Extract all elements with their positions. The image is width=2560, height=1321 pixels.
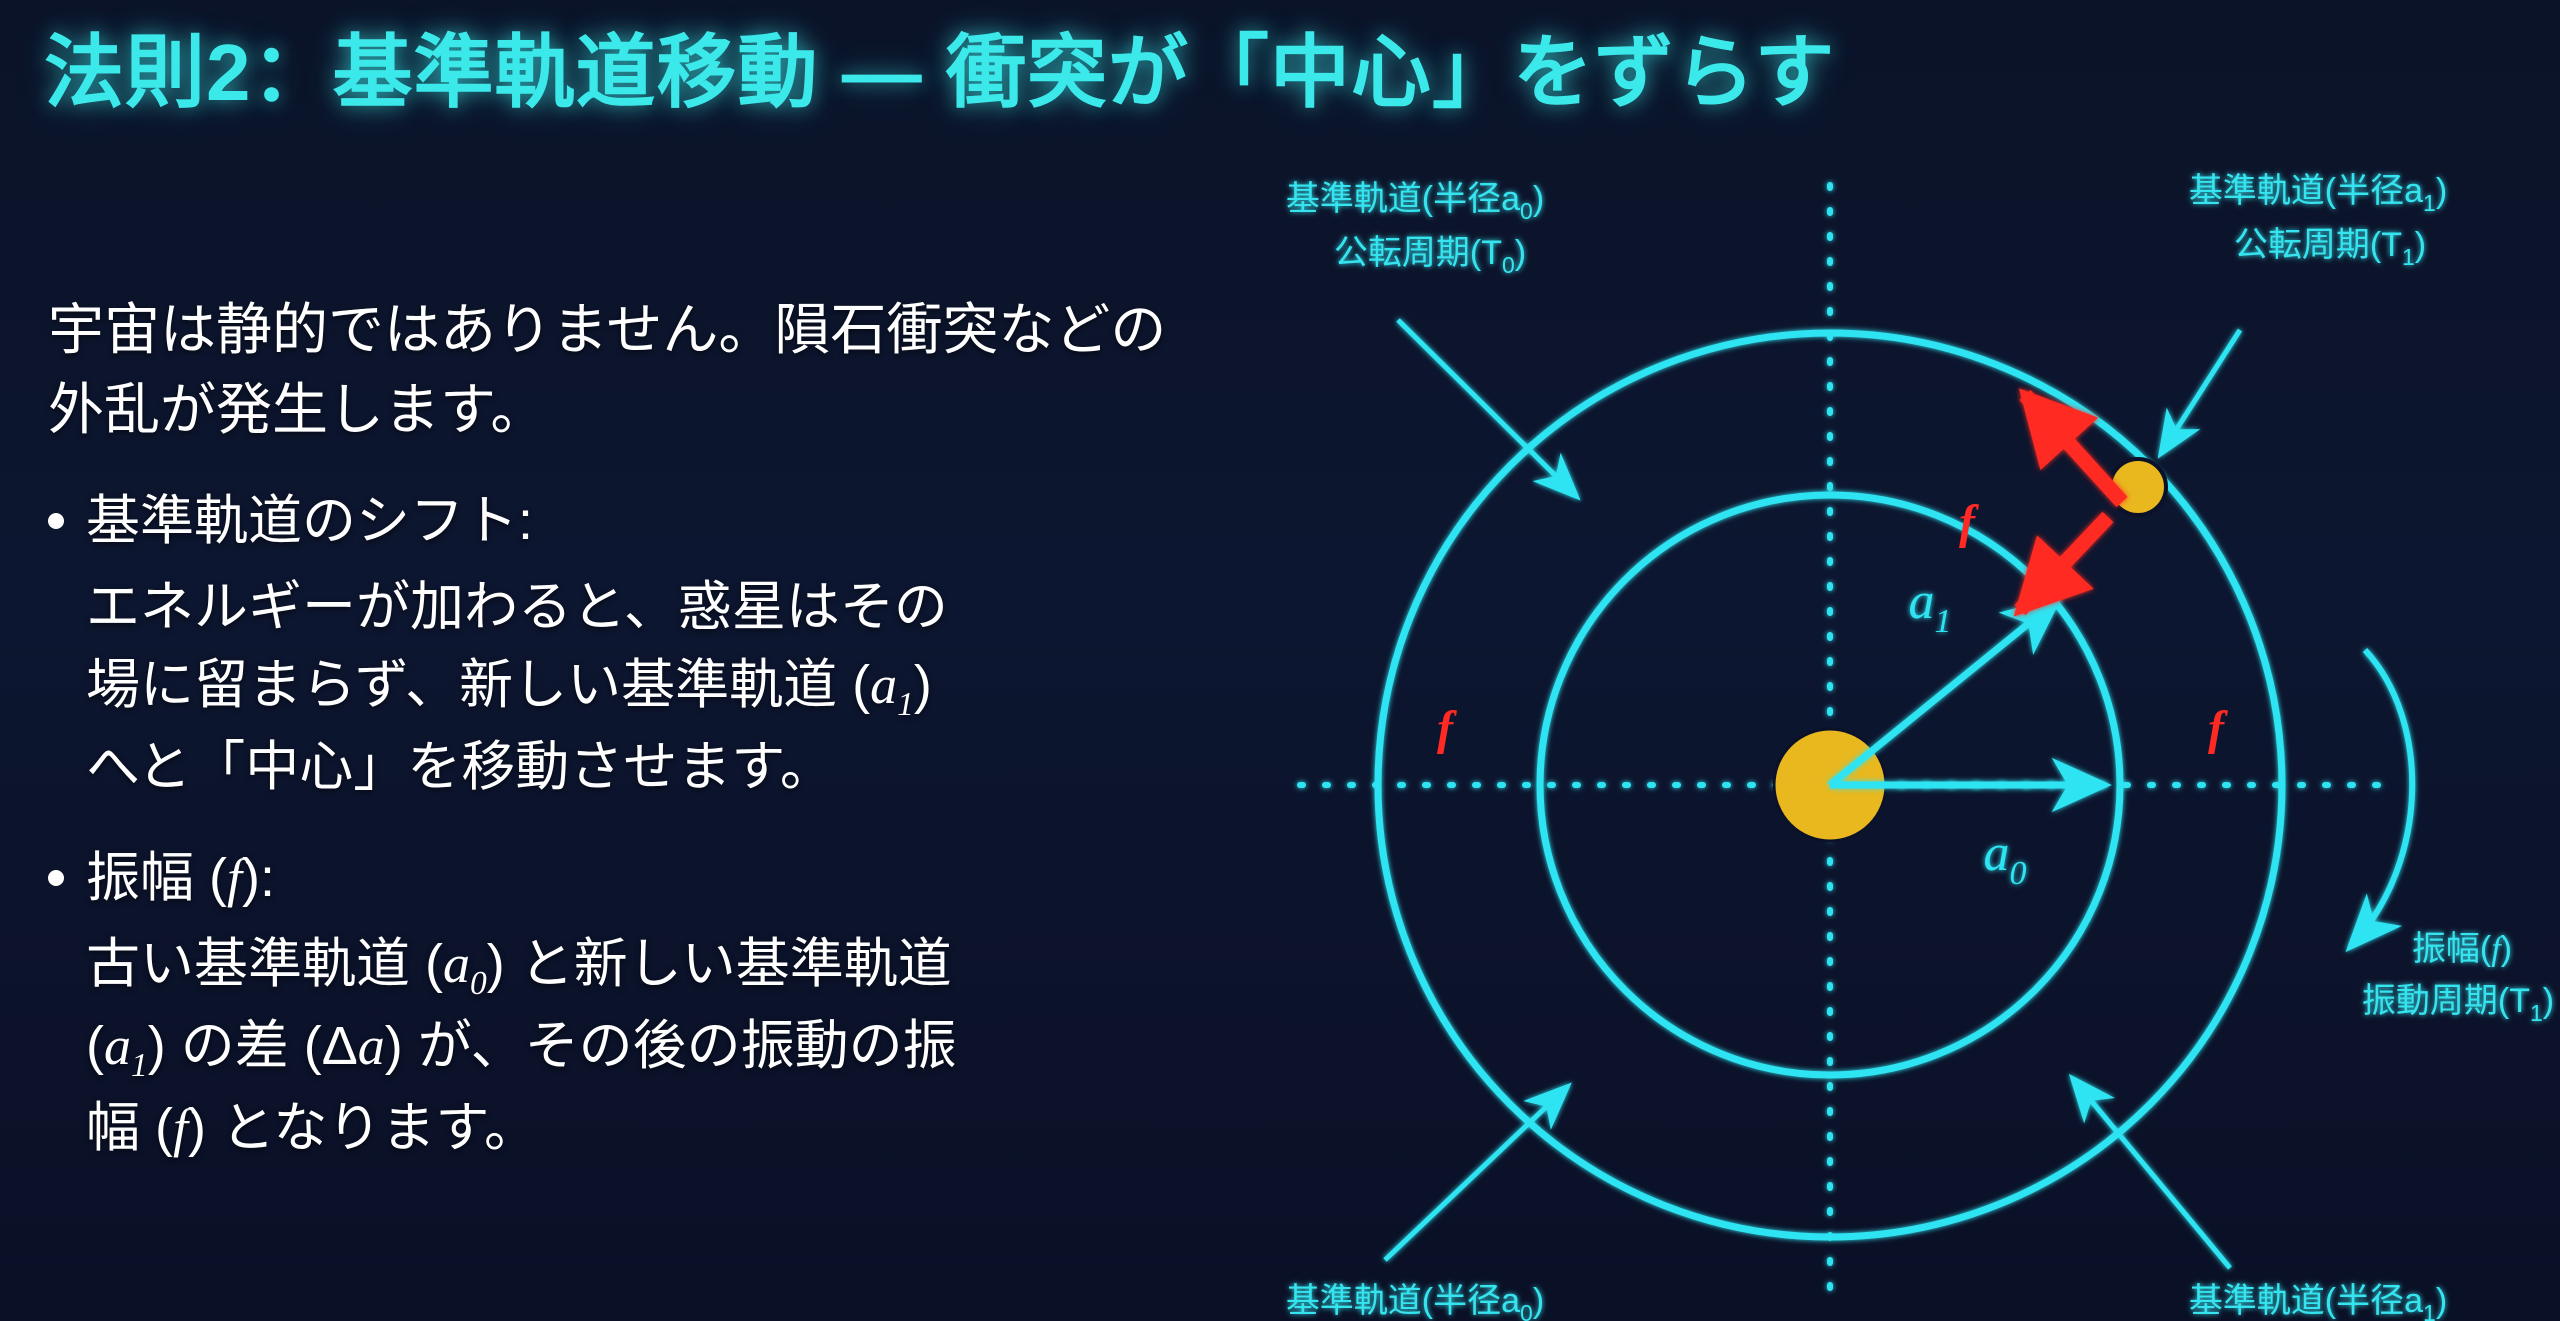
- svg-text:公転周期(T1): 公転周期(T1): [2234, 226, 2426, 270]
- label-top-left-line1-main: 基準軌道(半径a: [1286, 180, 1520, 218]
- radius-a0-var: a: [1984, 825, 2010, 882]
- force-label-planet: f: [1959, 496, 1979, 549]
- bullet-line-3-var: f: [173, 1098, 188, 1158]
- bullet-line-1-text-b: ) と新しい基準軌道: [487, 934, 952, 994]
- radius-a1-var: a: [1909, 573, 1935, 630]
- label-top-right-line1-sub: 1: [2423, 190, 2436, 216]
- bullet-item-orbit-shift: 基準軌道のシフト: エネルギーが加わると、惑星はその 場に留まらず、新しい基準軌…: [48, 483, 1228, 806]
- bullet-line-3: 幅 (f) となります。: [86, 1090, 957, 1168]
- label-top-right-line2-end: ): [2415, 226, 2426, 264]
- bullet-line-1-text-a: 古い基準軌道 (: [86, 934, 443, 994]
- label-right-amplitude: 振幅(f) 振動周期(T1): [2362, 930, 2554, 1026]
- label-bottom-left-line1-end: ): [1533, 1282, 1544, 1320]
- bullet-heading: 基準軌道のシフト:: [86, 483, 948, 561]
- radius-a0-sub: 0: [2010, 855, 2027, 892]
- label-top-left-line1-end: ): [1533, 180, 1544, 218]
- bullet-line-1: エネルギーが加わると、惑星はその: [86, 569, 948, 647]
- bullet-line-2: (a1) の差 (Δa) が、その後の振動の振: [86, 1008, 957, 1090]
- svg-text:基準軌道(半径a0): 基準軌道(半径a0): [1286, 1282, 1544, 1321]
- label-bottom-right-line1-sub: 1: [2423, 1300, 2436, 1321]
- label-top-right-line1-main: 基準軌道(半径a: [2189, 172, 2423, 210]
- svg-text:公転周期(T0): 公転周期(T0): [1334, 234, 1526, 278]
- svg-text:基準軌道(半径a1): 基準軌道(半径a1): [2189, 1282, 2447, 1321]
- oscillation-arc-arrow: [2352, 650, 2412, 945]
- svg-text:基準軌道(半径a0): 基準軌道(半径a0): [1286, 180, 1544, 224]
- bullet-line-2-text-b: ): [914, 655, 932, 715]
- leader-line-top-right: [2162, 330, 2240, 452]
- orbit-diagram: f f f 基準軌道(半径a0) 公転周期(T0) 基準軌道(半径a1) 公転周…: [1230, 140, 2560, 1321]
- label-bottom-right: 基準軌道(半径a1) 公転周期(T1): [2189, 1282, 2447, 1321]
- force-label-left: f: [1437, 702, 1457, 755]
- label-top-left-line2-main: 公転周期(T: [1334, 234, 1502, 272]
- svg-text:振幅(f): 振幅(f): [2412, 930, 2512, 968]
- bullet-heading: 振幅 (f):: [86, 840, 957, 918]
- label-bottom-right-line1-end: ): [2436, 1282, 2447, 1320]
- bullet-item-amplitude: 振幅 (f): 古い基準軌道 (a0) と新しい基準軌道 (a1) の差 (Δa…: [48, 840, 1228, 1168]
- bullet-line-2-var: a: [870, 655, 897, 715]
- page-title: 法則2：基準軌道移動 ― 衝突が「中心」をずらす: [44, 8, 1835, 124]
- label-right-line2-main: 振動周期(T: [2362, 982, 2530, 1020]
- bullet-line-1-var: a: [443, 934, 470, 994]
- content-column: 宇宙は静的ではありません。隕石衝突などの外乱が発生します。 基準軌道のシフト: …: [48, 290, 1228, 1168]
- bullet-line-2-var2: a: [358, 1016, 385, 1076]
- svg-text:振動周期(T1): 振動周期(T1): [2362, 982, 2554, 1026]
- bullet-line-2-text-a: (: [86, 1016, 104, 1076]
- bullet-line-2: 場に留まらず、新しい基準軌道 (a1): [86, 647, 948, 729]
- bullet-line-2-text-b: ) の差 (Δ: [148, 1016, 358, 1076]
- radius-a0-label: a0: [1984, 825, 2027, 892]
- intro-paragraph: 宇宙は静的ではありません。隕石衝突などの外乱が発生します。: [48, 290, 1188, 449]
- bullet-heading-var: f: [227, 848, 242, 908]
- label-top-left: 基準軌道(半径a0) 公転周期(T0): [1286, 180, 1544, 278]
- bullet-dot-icon: [48, 870, 64, 886]
- bullet-dot-icon: [48, 513, 64, 529]
- bullet-line-1-sub: 0: [470, 965, 487, 1002]
- label-top-right: 基準軌道(半径a1) 公転周期(T1): [2189, 172, 2447, 270]
- bullet-line-3-text-b: ) となります。: [188, 1098, 538, 1158]
- label-bottom-left-line1-main: 基準軌道(半径a: [1286, 1282, 1520, 1320]
- bullet-heading-b: ):: [242, 848, 275, 908]
- radius-a1-label: a1: [1909, 573, 1952, 640]
- label-right-line2-end: ): [2543, 982, 2554, 1020]
- label-right-line1-end: ): [2501, 930, 2512, 968]
- label-top-left-line2-end: ): [1515, 234, 1526, 272]
- label-right-line1-main: 振幅(: [2412, 930, 2492, 968]
- label-top-left-line2-sub: 0: [1502, 252, 1515, 278]
- label-top-left-line1-sub: 0: [1520, 198, 1533, 224]
- label-top-right-line2-sub: 1: [2402, 244, 2415, 270]
- bullet-line-1: 古い基準軌道 (a0) と新しい基準軌道: [86, 926, 957, 1008]
- bullet-line-2-var: a: [104, 1016, 131, 1076]
- label-top-right-line2-main: 公転周期(T: [2234, 226, 2402, 264]
- bullet-heading-a: 振幅 (: [86, 848, 227, 908]
- bullet-line-2-sub: 1: [131, 1047, 148, 1084]
- bullet-line-3-text-a: 幅 (: [86, 1098, 173, 1158]
- force-label-right: f: [2208, 702, 2228, 755]
- bullet-body: 基準軌道のシフト: エネルギーが加わると、惑星はその 場に留まらず、新しい基準軌…: [86, 483, 948, 806]
- bullet-body: 振幅 (f): 古い基準軌道 (a0) と新しい基準軌道 (a1) の差 (Δa…: [86, 840, 957, 1168]
- label-bottom-right-line1-main: 基準軌道(半径a: [2189, 1282, 2423, 1320]
- label-bottom-left-line1-sub: 0: [1520, 1300, 1533, 1321]
- bullet-line-2-text-a: 場に留まらず、新しい基準軌道 (: [86, 655, 870, 715]
- radius-a1-sub: 1: [1935, 603, 1952, 640]
- label-bottom-left: 基準軌道(半径a0): [1286, 1282, 1544, 1321]
- bullet-line-2-text-c: ) が、その後の振動の振: [385, 1016, 957, 1076]
- leader-line-bottom-left: [1385, 1088, 1566, 1260]
- svg-text:基準軌道(半径a1): 基準軌道(半径a1): [2189, 172, 2447, 216]
- leader-line-bottom-right: [2074, 1080, 2230, 1268]
- label-top-right-line1-end: ): [2436, 172, 2447, 210]
- bullet-line-3: へと「中心」を移動させます。: [86, 729, 948, 807]
- bullet-line-3-text: へと「中心」を移動させます。: [86, 737, 834, 797]
- leader-line-top-left: [1398, 320, 1575, 495]
- bullet-line-1-text: エネルギーが加わると、惑星はその: [86, 577, 948, 637]
- label-right-line2-sub: 1: [2530, 1000, 2543, 1026]
- bullet-line-2-sub: 1: [897, 685, 914, 722]
